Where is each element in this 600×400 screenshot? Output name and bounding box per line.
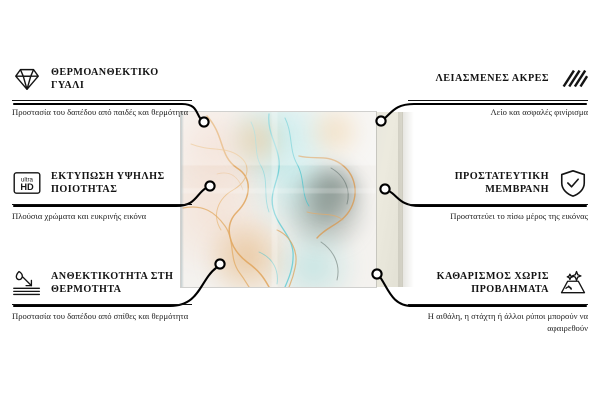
feature-title: ΠΡΟΣΤΑΤΕΥΤΙΚΗ ΜΕΜΒΡΑΝΗ (408, 170, 549, 197)
feature-divider (408, 204, 588, 205)
feature-header: ultra HD ΕΚΤΥΠΩΣΗ ΥΨΗΛΗΣ ΠΟΙΟΤΗΤΑΣ (12, 166, 192, 200)
infographic-stage: ΘΕΡΜΟΑΝΘΕΚΤΙΚΟ ΓΥΑΛΙ Προστασία του δαπέδ… (0, 0, 600, 400)
glass-panel (181, 112, 376, 287)
feature-description: Προστασία του δαπέδου από σπίθες και θερ… (12, 310, 192, 322)
svg-text:HD: HD (20, 182, 34, 192)
feature-header: ΚΑΘΑΡΙΣΜΟΣ ΧΩΡΙΣ ΠΡΟΒΛΗΜΑΤΑ (408, 266, 588, 300)
feature-header: ΘΕΡΜΟΑΝΘΕΚΤΙΚΟ ΓΥΑΛΙ (12, 62, 192, 96)
feature-description: Η αιθάλη, η στάχτη ή άλλοι ρύποι μπορούν… (408, 310, 588, 334)
ink-veins (181, 112, 376, 287)
feature-title: ΛΕΙΑΣΜΕΝΕΣ ΑΚΡΕΣ (436, 72, 549, 85)
feature-divider (408, 100, 588, 101)
diamond-icon (12, 64, 42, 94)
shield-check-icon (558, 168, 588, 198)
feature-divider (408, 304, 588, 305)
feature-title: ΘΕΡΜΟΑΝΘΕΚΤΙΚΟ ΓΥΑΛΙ (51, 66, 192, 93)
product-image (181, 112, 376, 287)
feature-title: ΚΑΘΑΡΙΣΜΟΣ ΧΩΡΙΣ ΠΡΟΒΛΗΜΑΤΑ (408, 270, 549, 297)
feature-protective-membrane: ΠΡΟΣΤΑΤΕΥΤΙΚΗ ΜΕΜΒΡΑΝΗ Προστατεύει το πί… (408, 166, 588, 222)
feature-header: ΛΕΙΑΣΜΕΝΕΣ ΑΚΡΕΣ (408, 62, 588, 96)
feature-easy-cleaning: ΚΑΘΑΡΙΣΜΟΣ ΧΩΡΙΣ ΠΡΟΒΛΗΜΑΤΑ Η αιθάλη, η … (408, 266, 588, 334)
feature-heat-durability: ΑΝΘΕΚΤΙΚΟΤΗΤΑ ΣΤΗ ΘΕΡΜΟΤΗΤΑ Προστασία το… (12, 266, 192, 322)
feature-divider (12, 204, 192, 205)
flame-deflect-icon (12, 268, 42, 298)
feature-title: ΕΚΤΥΠΩΣΗ ΥΨΗΛΗΣ ΠΟΙΟΤΗΤΑΣ (51, 170, 192, 197)
feature-heat-resistant-glass: ΘΕΡΜΟΑΝΘΕΚΤΙΚΟ ΓΥΑΛΙ Προστασία του δαπέδ… (12, 62, 192, 118)
feature-description: Προστατεύει το πίσω μέρος της εικόνας (408, 210, 588, 222)
feature-divider (12, 100, 192, 101)
feature-polished-edges: ΛΕΙΑΣΜΕΝΕΣ ΑΚΡΕΣ Λείο και ασφαλές φινίρι… (408, 62, 588, 118)
ultra-hd-icon: ultra HD (12, 168, 42, 198)
sparkle-cloth-icon (558, 268, 588, 298)
feature-header: ΑΝΘΕΚΤΙΚΟΤΗΤΑ ΣΤΗ ΘΕΡΜΟΤΗΤΑ (12, 266, 192, 300)
feature-title: ΑΝΘΕΚΤΙΚΟΤΗΤΑ ΣΤΗ ΘΕΡΜΟΤΗΤΑ (51, 270, 192, 297)
feature-description: Λείο και ασφαλές φινίρισμα (408, 106, 588, 118)
feature-high-quality-print: ultra HD ΕΚΤΥΠΩΣΗ ΥΨΗΛΗΣ ΠΟΙΟΤΗΤΑΣ Πλούσ… (12, 166, 192, 222)
diagonal-stripes-icon (558, 64, 588, 94)
feature-description: Προστασία του δαπέδου από παιδές και θερ… (12, 106, 192, 118)
feature-header: ΠΡΟΣΤΑΤΕΥΤΙΚΗ ΜΕΜΒΡΑΝΗ (408, 166, 588, 200)
feature-description: Πλούσια χρώματα και ευκρινής εικόνα (12, 210, 192, 222)
feature-divider (12, 304, 192, 305)
